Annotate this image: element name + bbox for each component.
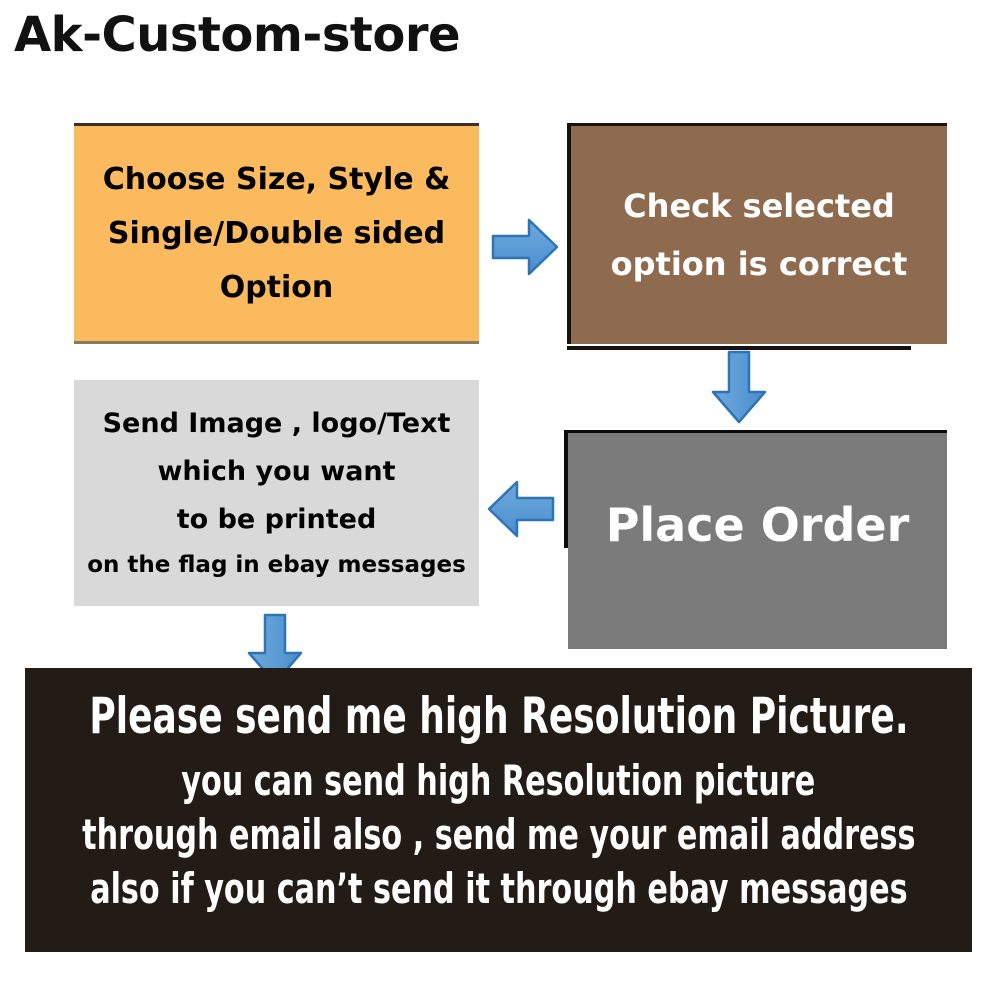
flow-step-choose-options-line-1: Choose Size, Style &	[103, 153, 451, 207]
flow-step-choose-options-line-2: Single/Double sided	[108, 207, 445, 261]
arrow-left-icon	[487, 478, 555, 540]
flow-step-send-image-line-1: Send Image , logo/Text	[103, 400, 451, 448]
flow-step-send-image-line-3: to be printed	[177, 496, 377, 544]
flow-step-send-image: Send Image , logo/Text which you want to…	[74, 380, 479, 606]
flow-step-choose-options: Choose Size, Style & Single/Double sided…	[74, 123, 479, 344]
flow-step-place-order-label: Place Order	[606, 497, 910, 553]
arrow-right-icon	[491, 216, 559, 278]
note-headline: Please send me high Resolution Picture.	[89, 678, 908, 754]
flow-step-check-selection: Check selected option is correct	[567, 123, 947, 344]
flow-step-place-order: Place Order	[568, 433, 947, 649]
flow-step-send-image-line-4: on the flag in ebay messages	[87, 544, 466, 586]
flow-step-check-selection-line-2: option is correct	[611, 235, 908, 293]
note-high-resolution-picture: Please send me high Resolution Picture. …	[25, 668, 972, 952]
note-line-1: you can send high Resolution picture	[182, 754, 816, 808]
note-line-2: through email also , send me your email …	[82, 808, 915, 862]
flow-step-check-selection-line-1: Check selected	[623, 177, 895, 235]
flow-step-send-image-line-2: which you want	[157, 448, 395, 496]
arrow-down-icon	[709, 350, 769, 424]
flow-step-choose-options-line-3: Option	[220, 261, 334, 315]
flowchart-canvas: Ak-Custom-store Choose Size, Style & Sin…	[0, 0, 1000, 1000]
page-title: Ak-Custom-store	[14, 2, 460, 68]
note-line-3: also if you can’t send it through ebay m…	[90, 862, 908, 916]
